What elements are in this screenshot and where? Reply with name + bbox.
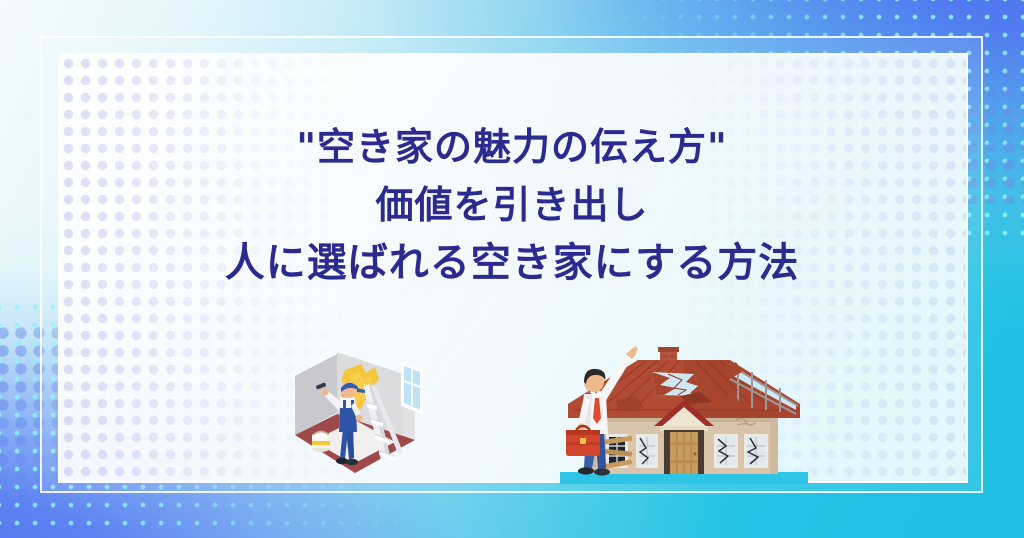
headline-line-1: "空き家の魅力の伝え方" <box>0 118 1024 176</box>
headline-line-3: 人に選ばれる空き家にする方法 <box>0 234 1024 292</box>
banner-canvas: "空き家の魅力の伝え方" 価値を引き出し 人に選ばれる空き家にする方法 <box>0 0 1024 538</box>
headline-line-2: 価値を引き出し <box>0 176 1024 234</box>
headline-block: "空き家の魅力の伝え方" 価値を引き出し 人に選ばれる空き家にする方法 <box>0 118 1024 292</box>
painter-illustration <box>283 340 423 482</box>
house-illustration <box>560 338 808 484</box>
